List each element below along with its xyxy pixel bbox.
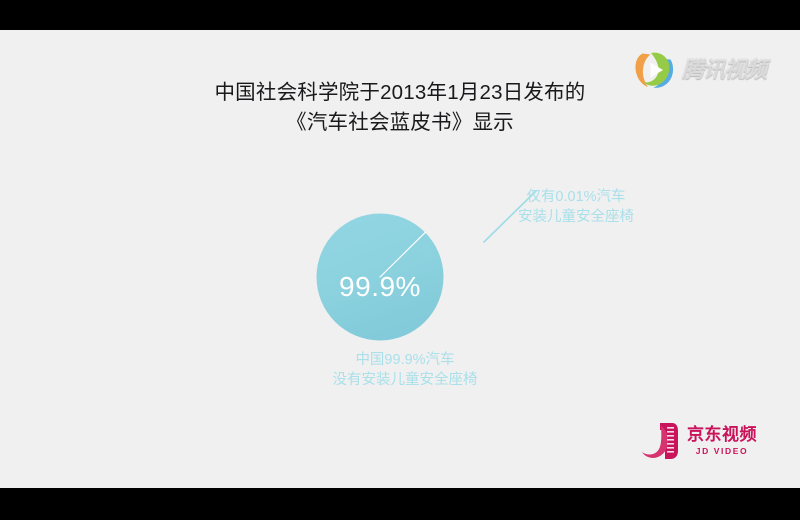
jd-film-icon	[640, 420, 680, 462]
callout-with-child-seat: 仅有0.01%汽车 安装儿童安全座椅	[496, 187, 656, 227]
callout-with-child-seat-line-2: 安装儿童安全座椅	[496, 207, 656, 227]
video-player-stage: 中国社会科学院于2013年1月23日发布的 《汽车社会蓝皮书》显示 99.9%	[0, 0, 800, 520]
tencent-video-label: 腾讯视频	[682, 57, 766, 83]
jd-video-watermark: 京东视频 JD VIDEO	[640, 418, 780, 464]
callout-no-child-seat-line-2: 没有安装儿童安全座椅	[300, 370, 510, 390]
tencent-video-watermark: 腾讯视频	[632, 46, 784, 94]
letterbox-bottom	[0, 488, 800, 520]
jd-video-label-cn: 京东视频	[687, 425, 757, 444]
jd-video-wordmark: 京东视频 JD VIDEO	[687, 425, 757, 457]
tencent-play-icon	[632, 49, 676, 91]
video-canvas: 中国社会科学院于2013年1月23日发布的 《汽车社会蓝皮书》显示 99.9%	[0, 30, 800, 488]
pie-chart: 99.9%	[316, 213, 444, 341]
jd-video-label-en: JD VIDEO	[696, 446, 748, 457]
letterbox-top	[0, 0, 800, 30]
callout-with-child-seat-line-1: 仅有0.01%汽车	[496, 187, 656, 207]
page-title-line-2: 《汽车社会蓝皮书》显示	[0, 108, 800, 138]
pie-chart-svg	[316, 213, 444, 341]
callout-no-child-seat-line-1: 中国99.9%汽车	[300, 350, 510, 370]
callout-no-child-seat: 中国99.9%汽车 没有安装儿童安全座椅	[300, 350, 510, 390]
